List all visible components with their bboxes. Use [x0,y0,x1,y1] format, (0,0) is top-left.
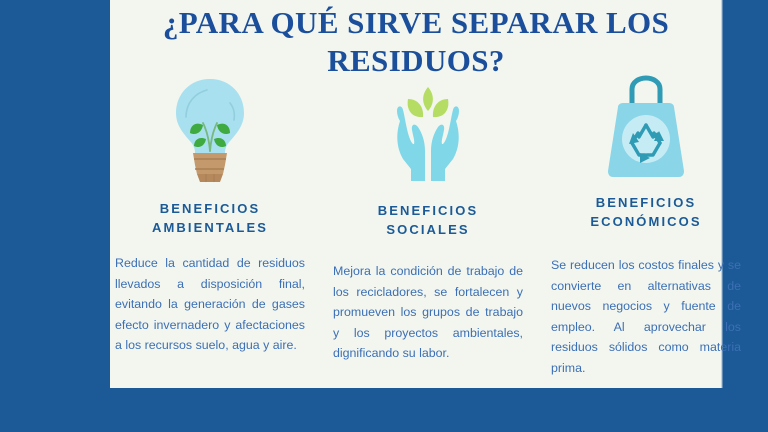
heading-line-1: BENEFICIOS [378,203,478,218]
heading-line-2: SOCIALES [386,222,469,237]
column-body-environmental: Reduce la cantidad de residuos llevados … [115,253,305,356]
benefit-column-social: BENEFICIOS SOCIALES Mejora la condición … [333,70,523,364]
heading-line-1: BENEFICIOS [160,201,260,216]
column-body-social: Mejora la condición de trabajo de los re… [333,261,523,364]
slide-canvas: ¿PARA QUÉ SIRVE SEPARAR LOS RESIDUOS? [0,0,768,432]
heading-line-1: BENEFICIOS [596,195,696,210]
column-heading-economic: BENEFICIOS ECONÓMICOS [551,193,741,231]
page-title: ¿PARA QUÉ SIRVE SEPARAR LOS RESIDUOS? [110,0,722,80]
benefit-column-environmental: BENEFICIOS AMBIENTALES Reduce la cantida… [115,70,305,356]
hands-sprout-icon [333,70,523,185]
heading-line-2: AMBIENTALES [152,220,268,235]
recycling-bag-icon [551,70,741,185]
heading-line-2: ECONÓMICOS [590,214,701,229]
column-heading-social: BENEFICIOS SOCIALES [333,201,523,239]
lightbulb-plant-icon [115,70,305,185]
benefit-column-economic: BENEFICIOS ECONÓMICOS Se reducen los cos… [551,70,741,378]
column-heading-environmental: BENEFICIOS AMBIENTALES [115,199,305,237]
column-body-economic: Se reducen los costos finales y se convi… [551,255,741,378]
